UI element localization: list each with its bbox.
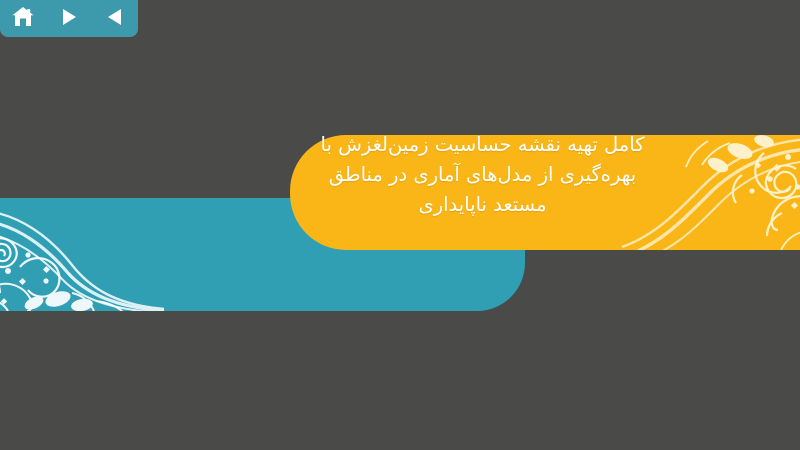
triangle-right-icon [60, 7, 78, 27]
triangle-left-icon [106, 7, 124, 27]
arabesque-corner-ornament [620, 135, 800, 250]
back-button[interactable] [100, 3, 130, 31]
navigation-bar [0, 0, 138, 37]
home-icon [11, 6, 35, 28]
arabesque-corner-ornament [0, 198, 166, 311]
forward-button[interactable] [54, 3, 84, 31]
presentation-slide: کامل تهیه نقشه حساسیت زمین‌لغزش با بهره‌… [0, 0, 800, 450]
home-button[interactable] [8, 3, 38, 31]
orange-title-panel [290, 135, 800, 250]
